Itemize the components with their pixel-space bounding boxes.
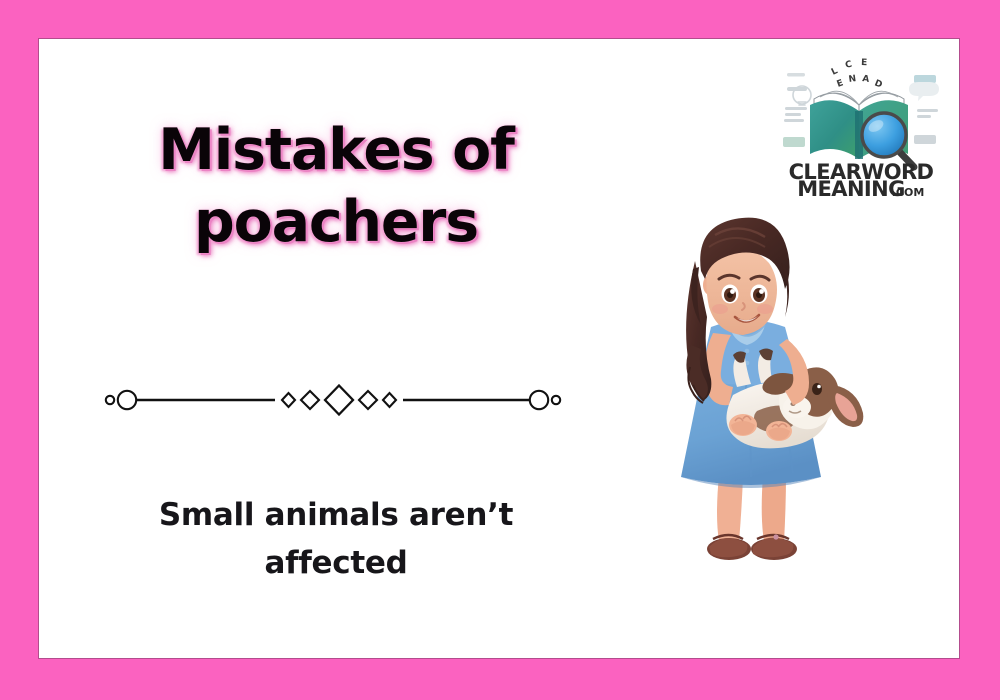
logo-floating-letters: L C E E N A D <box>830 58 884 91</box>
svg-text:A: A <box>862 74 870 85</box>
clearword-meaning-logo-icon: L C E E N A D <box>781 57 941 197</box>
svg-text:N: N <box>848 74 857 85</box>
logo-wordmark: CLEARWORD MEANING .COM <box>789 160 934 197</box>
svg-text:E: E <box>861 58 868 68</box>
title-line-1: Mistakes of <box>101 114 571 186</box>
svg-text:E: E <box>836 78 845 90</box>
svg-text:L: L <box>830 66 840 78</box>
girl-holding-goat-icon <box>637 199 907 579</box>
subtitle-line-1: Small animals aren’t <box>101 491 571 539</box>
svg-text:.COM: .COM <box>892 186 925 197</box>
svg-text:D: D <box>873 79 884 91</box>
divider-icon <box>103 383 563 417</box>
subtitle: Small animals aren’t affected <box>101 491 571 587</box>
brand-logo: L C E E N A D <box>781 57 941 197</box>
girl-with-goat-illustration <box>637 199 907 579</box>
subtitle-line-2: affected <box>101 539 571 587</box>
svg-text:C: C <box>844 60 853 71</box>
page-title: Mistakes of poachers <box>101 114 571 258</box>
svg-text:MEANING: MEANING <box>797 177 905 197</box>
white-content-card: Mistakes of poachers <box>39 39 959 658</box>
ornamental-divider <box>103 383 563 417</box>
title-line-2: poachers <box>101 186 571 258</box>
slide-canvas: Mistakes of poachers <box>0 0 1000 700</box>
